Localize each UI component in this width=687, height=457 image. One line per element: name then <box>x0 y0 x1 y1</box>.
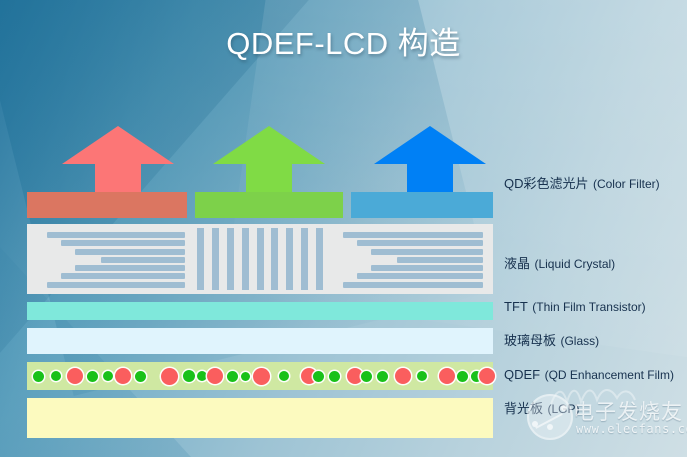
lc-vertical-bar <box>271 228 278 290</box>
lc-center-vertical-pattern <box>193 228 327 290</box>
lc-electrode-bar <box>47 282 185 288</box>
quantum-dot <box>479 368 495 384</box>
label-en: (Thin Film Transistor) <box>532 300 645 314</box>
lc-electrode-bar <box>75 249 185 255</box>
quantum-dot <box>51 371 61 381</box>
quantum-dot <box>135 371 146 382</box>
quantum-dot <box>115 368 131 384</box>
quantum-dot <box>417 371 427 381</box>
green-color-filter <box>195 192 343 218</box>
quantum-dot <box>377 371 388 382</box>
blue-color-filter <box>351 192 493 218</box>
label-cn: QD彩色滤光片 <box>504 176 589 191</box>
quantum-dot <box>33 371 44 382</box>
lc-vertical-bar <box>316 228 323 290</box>
quantum-dot <box>161 368 178 385</box>
lc-electrode-bar <box>61 240 185 246</box>
lc-vertical-bar <box>227 228 234 290</box>
lc-vertical-bar <box>301 228 308 290</box>
liquid-crystal-layer <box>27 224 493 294</box>
label-en: (Liquid Crystal) <box>534 257 615 271</box>
label-en: (Glass) <box>560 334 599 348</box>
lc-left-electrode-pattern <box>37 230 185 288</box>
quantum-dot <box>361 371 372 382</box>
label-cn: TFT <box>504 299 528 314</box>
color-filter-layer <box>27 192 493 218</box>
arrow-head <box>62 126 174 164</box>
quantum-dot <box>313 371 324 382</box>
label-liquid-crystal: 液晶 (Liquid Crystal) <box>504 255 615 273</box>
watermark-logo-icon <box>527 394 573 440</box>
lc-electrode-bar <box>61 273 185 279</box>
quantum-dot <box>395 368 411 384</box>
label-en: (Color Filter) <box>593 177 660 191</box>
lc-vertical-bar <box>197 228 204 290</box>
lc-vertical-bar <box>257 228 264 290</box>
quantum-dot <box>439 368 455 384</box>
label-cn: QDEF <box>504 367 540 382</box>
quantum-dot <box>241 372 250 381</box>
tft-layer <box>27 302 493 320</box>
label-color-filter: QD彩色滤光片 (Color Filter) <box>504 175 660 193</box>
lc-electrode-bar <box>357 273 483 279</box>
arrow-head <box>213 126 325 164</box>
quantum-dot <box>253 368 270 385</box>
arrow-head <box>374 126 486 164</box>
watermark: 电子发烧友 www.elecfans.com <box>521 388 687 457</box>
qdef-layer <box>27 362 493 390</box>
quantum-dot <box>207 368 223 384</box>
glass-layer <box>27 328 493 354</box>
label-tft: TFT (Thin Film Transistor) <box>504 298 646 316</box>
lc-electrode-bar <box>371 249 483 255</box>
lc-electrode-bar <box>343 282 483 288</box>
quantum-dot <box>103 371 113 381</box>
quantum-dot <box>457 371 468 382</box>
lc-electrode-bar <box>343 232 483 238</box>
watermark-url: www.elecfans.com <box>576 422 687 436</box>
quantum-dot <box>329 371 340 382</box>
label-qdef: QDEF (QD Enhancement Film) <box>504 366 674 384</box>
diagram-canvas: QDEF-LCD 构造 QD彩色滤光片 (Color Fi <box>0 0 687 457</box>
lc-electrode-bar <box>47 232 185 238</box>
backlight-layer <box>27 398 493 438</box>
quantum-dot <box>183 370 195 382</box>
label-cn: 液晶 <box>504 256 530 271</box>
lc-electrode-bar <box>75 265 185 271</box>
quantum-dot <box>227 371 238 382</box>
quantum-dot <box>197 371 207 381</box>
lc-electrode-bar <box>397 257 483 263</box>
lc-electrode-bar <box>371 265 483 271</box>
red-color-filter <box>27 192 187 218</box>
lc-right-electrode-pattern <box>333 230 483 288</box>
lc-vertical-bar <box>286 228 293 290</box>
quantum-dot <box>67 368 83 384</box>
lc-vertical-bar <box>212 228 219 290</box>
lc-electrode-bar <box>357 240 483 246</box>
label-glass: 玻璃母板 (Glass) <box>504 332 599 350</box>
label-cn: 玻璃母板 <box>504 333 556 348</box>
lc-electrode-bar <box>101 257 185 263</box>
quantum-dot <box>279 371 289 381</box>
label-en: (QD Enhancement Film) <box>545 368 674 382</box>
lc-vertical-bar <box>242 228 249 290</box>
lcd-layer-stack <box>27 192 493 438</box>
quantum-dot <box>87 371 98 382</box>
